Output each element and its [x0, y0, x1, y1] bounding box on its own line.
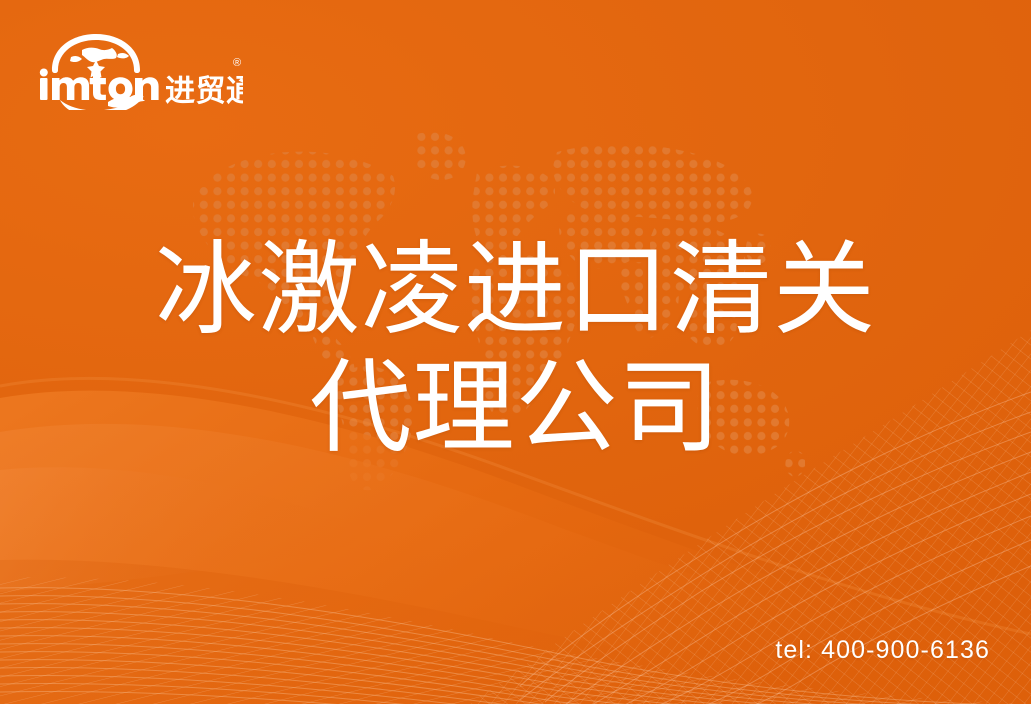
promo-banner: 进贸通 ® 冰激凌进口清关 代理公司 tel: 400-900-6136	[0, 0, 1031, 704]
page-title: 冰激凌进口清关 代理公司	[0, 228, 1031, 471]
brand-logo[interactable]: 进贸通 ®	[38, 30, 243, 110]
contact-phone[interactable]: tel: 400-900-6136	[775, 636, 990, 665]
brand-chinese-wordmark: 进贸通	[165, 75, 243, 108]
registered-trademark-mark: ®	[233, 57, 241, 69]
headline-line-2: 代理公司	[0, 346, 1031, 470]
brand-latin-wordmark	[40, 69, 159, 101]
headline-line-1: 冰激凌进口清关	[0, 228, 1031, 352]
